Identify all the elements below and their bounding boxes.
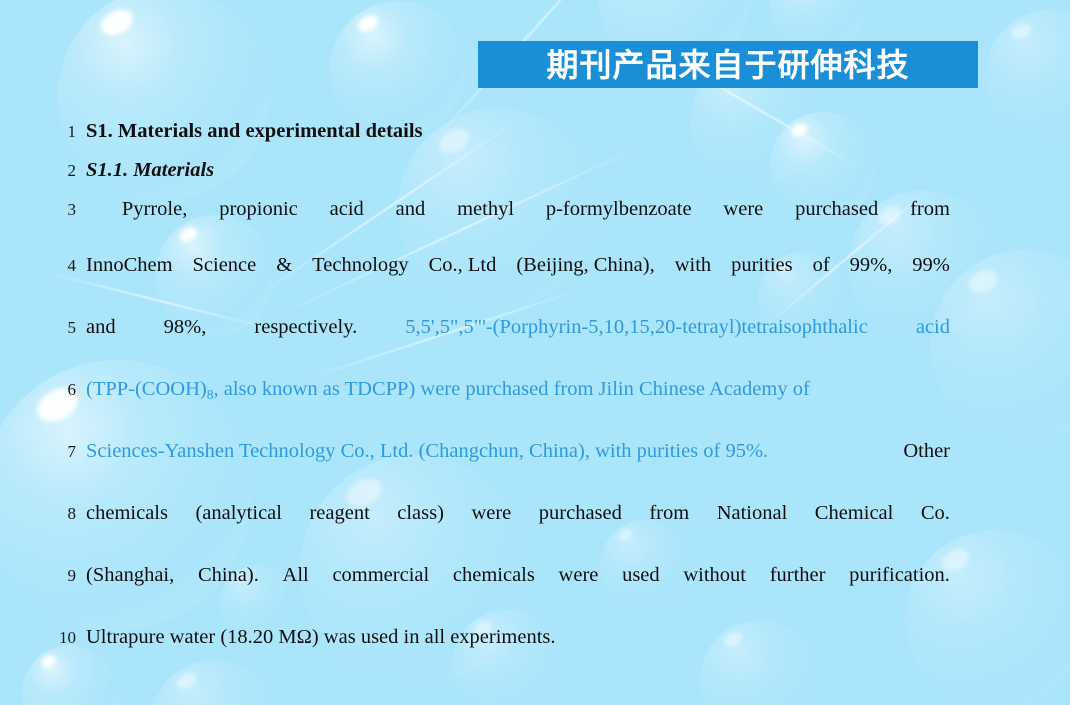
word: respectively. <box>254 316 357 339</box>
word: were <box>723 198 763 221</box>
line-number: 4 <box>0 256 86 276</box>
word: Pyrrole, <box>86 198 187 221</box>
word: purities <box>731 254 793 277</box>
word: purchased <box>539 502 622 525</box>
word: with <box>675 254 711 277</box>
word: were <box>559 564 599 587</box>
paragraph-line: (Shanghai, China). All commercial chemic… <box>86 564 950 587</box>
word: p-formylbenzoate <box>546 198 692 221</box>
word: without <box>683 564 746 587</box>
paragraph-line: and 98%, respectively. 5,5',5",5"'-(Porp… <box>86 316 950 339</box>
text-line: 10 Ultrapure water (18.20 MΩ) was used i… <box>0 626 1070 688</box>
section-heading-2: S1.1. Materials <box>86 159 950 182</box>
line-number: 8 <box>0 504 86 524</box>
paragraph-line: (TPP-(COOH)8, also known as TDCPP) were … <box>86 378 950 403</box>
slide-page: 期刊产品来自于研伸科技 1 S1. Materials and experime… <box>0 0 1070 705</box>
word: Co. <box>921 502 950 525</box>
paragraph-line: InnoChem Science & Technology Co., Ltd (… <box>86 254 950 277</box>
word: of <box>813 254 830 277</box>
line-number: 2 <box>0 161 86 181</box>
chemical-formula-prefix: (TPP-(COOH) <box>86 378 207 400</box>
chemical-name: 5,5',5",5"'-(Porphyrin-5,10,15,20-tetray… <box>405 316 868 339</box>
word: 99%, <box>850 254 893 277</box>
word: Science <box>193 254 257 277</box>
word: China). <box>198 564 259 587</box>
text-line: 2 S1.1. Materials <box>0 159 1070 198</box>
line-number: 1 <box>0 122 86 142</box>
word: further <box>770 564 826 587</box>
banner-title: 期刊产品来自于研伸科技 <box>546 49 909 81</box>
line-number: 5 <box>0 318 86 338</box>
paragraph-line: Sciences-Yanshen Technology Co., Ltd. (C… <box>86 440 950 463</box>
word: 98%, <box>164 316 207 339</box>
word: methyl <box>457 198 514 221</box>
word: All <box>283 564 309 587</box>
word: & <box>276 254 292 277</box>
line-number: 3 <box>0 200 86 220</box>
line-number: 10 <box>0 628 86 648</box>
word: Co., Ltd <box>429 254 497 277</box>
chemical-formula-suffix: , also known as TDCPP) were purchased fr… <box>213 378 809 400</box>
word: acid <box>330 198 364 221</box>
word: propionic <box>219 198 298 221</box>
section-heading-1: S1. Materials and experimental details <box>86 120 950 143</box>
word: (Shanghai, <box>86 564 174 587</box>
paragraph-line: chemicals (analytical reagent class) wer… <box>86 502 950 525</box>
word: (analytical <box>195 502 282 525</box>
word: InnoChem <box>86 254 173 277</box>
word: National <box>717 502 788 525</box>
line-number: 6 <box>0 380 86 400</box>
bubble-decoration <box>330 1 466 137</box>
chemical-name: acid <box>916 316 950 339</box>
text-line: 6 (TPP-(COOH)8, also known as TDCPP) wer… <box>0 378 1070 440</box>
text-line: 9 (Shanghai, China). All commercial chem… <box>0 564 1070 626</box>
line-number: 9 <box>0 566 86 586</box>
text-line: 1 S1. Materials and experimental details <box>0 120 1070 159</box>
text-line: 8 chemicals (analytical reagent class) w… <box>0 502 1070 564</box>
word: chemicals <box>86 502 168 525</box>
word: Chemical <box>815 502 894 525</box>
text-line: 3 Pyrrole, propionic acid and methyl p-f… <box>0 198 1070 254</box>
word: purification. <box>849 564 950 587</box>
supplier-info: Sciences-Yanshen Technology Co., Ltd. (C… <box>86 440 768 463</box>
word: reagent <box>309 502 369 525</box>
text-line: 5 and 98%, respectively. 5,5',5",5"'-(Po… <box>0 316 1070 378</box>
document-body: 1 S1. Materials and experimental details… <box>0 120 1070 688</box>
word: commercial <box>332 564 429 587</box>
paragraph-line: Ultrapure water (18.20 MΩ) was used in a… <box>86 626 950 649</box>
word: Technology <box>312 254 408 277</box>
word: and <box>86 316 116 339</box>
word: Other <box>903 440 950 463</box>
text-line: 7 Sciences-Yanshen Technology Co., Ltd. … <box>0 440 1070 502</box>
word: from <box>910 198 950 221</box>
paragraph-line: Pyrrole, propionic acid and methyl p-for… <box>86 198 950 221</box>
word: class) <box>397 502 444 525</box>
text-line: 4 InnoChem Science & Technology Co., Ltd… <box>0 254 1070 316</box>
word: purchased <box>795 198 878 221</box>
word: chemicals <box>453 564 535 587</box>
watermark-banner: 期刊产品来自于研伸科技 <box>478 41 978 88</box>
line-number: 7 <box>0 442 86 462</box>
word: 99% <box>912 254 950 277</box>
word: and <box>396 198 426 221</box>
word: (Beijing, China), <box>516 254 654 277</box>
word: used <box>622 564 660 587</box>
word: were <box>471 502 511 525</box>
word: from <box>649 502 689 525</box>
